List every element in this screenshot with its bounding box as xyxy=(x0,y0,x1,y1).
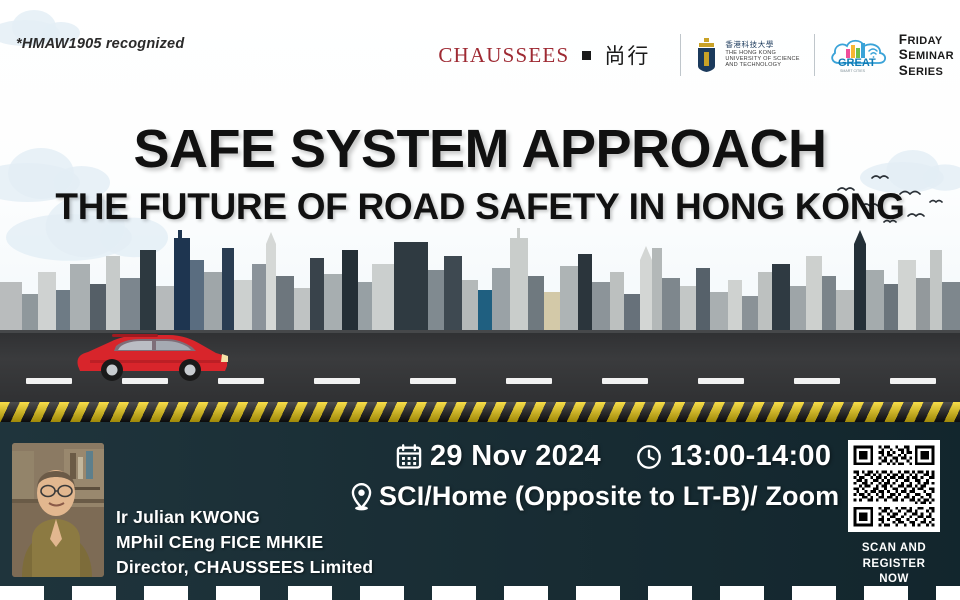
fss-line3: SERIES xyxy=(899,63,954,78)
chaussees-wordmark: CHAUSSEES xyxy=(438,43,569,68)
registration-block[interactable]: SCAN AND REGISTER NOW xyxy=(848,440,940,588)
event-datetime-row: 29 Nov 2024 13:00-14:00 xyxy=(395,440,845,473)
svg-text:GREAT: GREAT xyxy=(838,57,876,69)
event-venue-text: SCI/Home (Opposite to LT-B)/ Zoom xyxy=(379,481,839,512)
event-venue: SCI/Home (Opposite to LT-B)/ Zoom xyxy=(348,481,839,512)
chaussees-logo: CHAUSSEES 尚行 xyxy=(438,40,666,70)
great-cloud-logo-icon: GREAT SMART CITIES xyxy=(829,35,891,75)
qr-caption-line1: SCAN AND xyxy=(848,541,940,557)
event-time: 13:00-14:00 xyxy=(635,440,831,473)
event-time-text: 13:00-14:00 xyxy=(670,440,831,473)
clock-icon xyxy=(635,443,663,471)
fss-line2: SEMINAR xyxy=(899,47,954,62)
page-subtitle: THE FUTURE OF ROAD SAFETY IN HONG KONG xyxy=(0,186,960,228)
speaker-info: Ir Julian KWONG MPhil CEng FICE MHKIE Di… xyxy=(116,505,373,580)
great-friday-seminar-logo: GREAT SMART CITIES FRIDAY SEMINAR SERIES xyxy=(829,32,954,78)
city-skyline-icon xyxy=(0,220,960,330)
page-title: SAFE SYSTEM APPROACH xyxy=(0,118,960,180)
qr-caption-line2: REGISTER NOW xyxy=(848,557,940,588)
logo-divider xyxy=(680,34,681,76)
fss-line1: FRIDAY xyxy=(899,32,954,47)
cpd-note: *HMAW1905 recognized xyxy=(16,36,184,52)
event-date-text: 29 Nov 2024 xyxy=(430,440,601,473)
qr-code-icon[interactable] xyxy=(848,440,940,532)
speaker-name: Ir Julian KWONG xyxy=(116,505,373,530)
speaker-title: Director, CHAUSSEES Limited xyxy=(116,555,373,580)
svg-text:SMART CITIES: SMART CITIES xyxy=(840,69,866,73)
logo-row: CHAUSSEES 尚行 香港科技大學 THE HONG KONG UNIVER… xyxy=(438,26,954,84)
speaker-portrait xyxy=(12,443,104,577)
hkust-shield-icon xyxy=(695,38,718,72)
red-car-icon xyxy=(72,326,232,384)
hkust-logo: 香港科技大學 THE HONG KONG UNIVERSITY OF SCIEN… xyxy=(695,38,799,72)
hkust-chinese-name: 香港科技大學 xyxy=(725,41,799,49)
square-bullet-icon xyxy=(582,51,591,60)
qr-caption: SCAN AND REGISTER NOW xyxy=(848,541,940,588)
chaussees-chinese-name: 尚行 xyxy=(604,40,650,70)
seminar-poster: *HMAW1905 recognized CHAUSSEES 尚行 香港科技大學… xyxy=(0,0,960,600)
friday-seminar-series-label: FRIDAY SEMINAR SERIES xyxy=(899,32,954,78)
bottom-notch-strip xyxy=(0,586,960,600)
hkust-name-line3: AND TECHNOLOGY xyxy=(725,62,799,68)
hazard-tape-icon xyxy=(0,402,960,422)
speaker-qualifications: MPhil CEng FICE MHKIE xyxy=(116,530,373,555)
calendar-icon xyxy=(395,443,423,471)
event-date: 29 Nov 2024 xyxy=(395,440,601,473)
logo-divider xyxy=(814,34,815,76)
location-pin-icon xyxy=(348,482,375,512)
